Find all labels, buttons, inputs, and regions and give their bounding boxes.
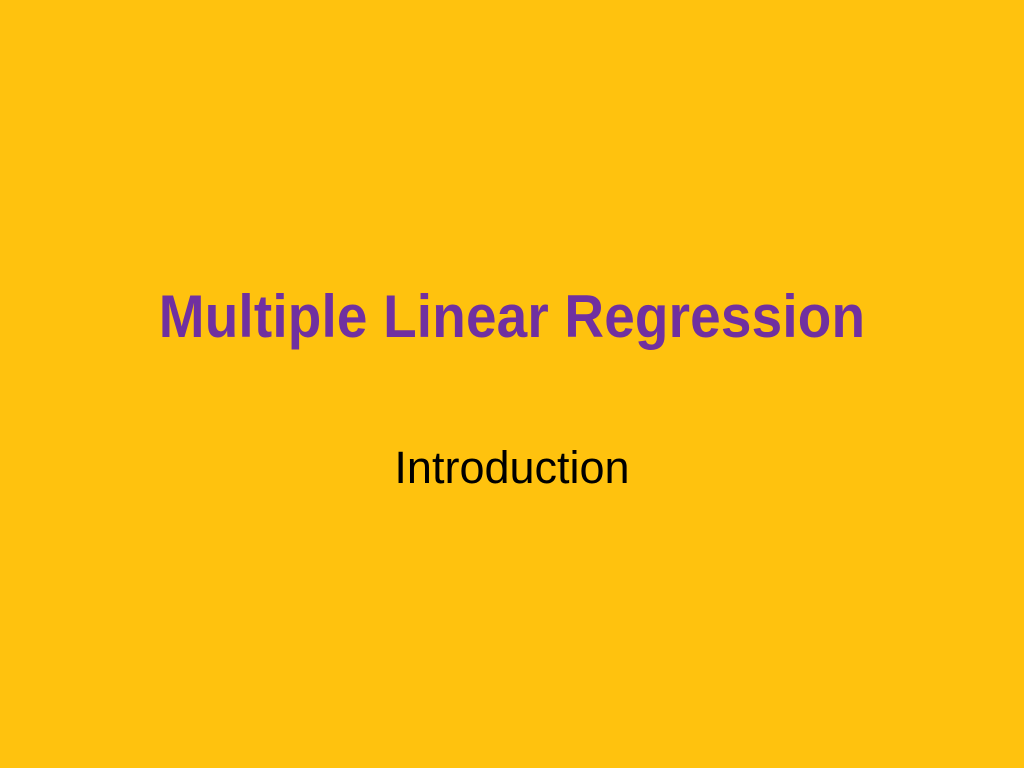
presentation-slide: Multiple Linear Regression Introduction [0, 0, 1024, 768]
slide-content-stack: Multiple Linear Regression Introduction [0, 0, 1024, 768]
slide-title: Multiple Linear Regression [44, 282, 981, 352]
slide-subtitle: Introduction [0, 440, 1024, 495]
